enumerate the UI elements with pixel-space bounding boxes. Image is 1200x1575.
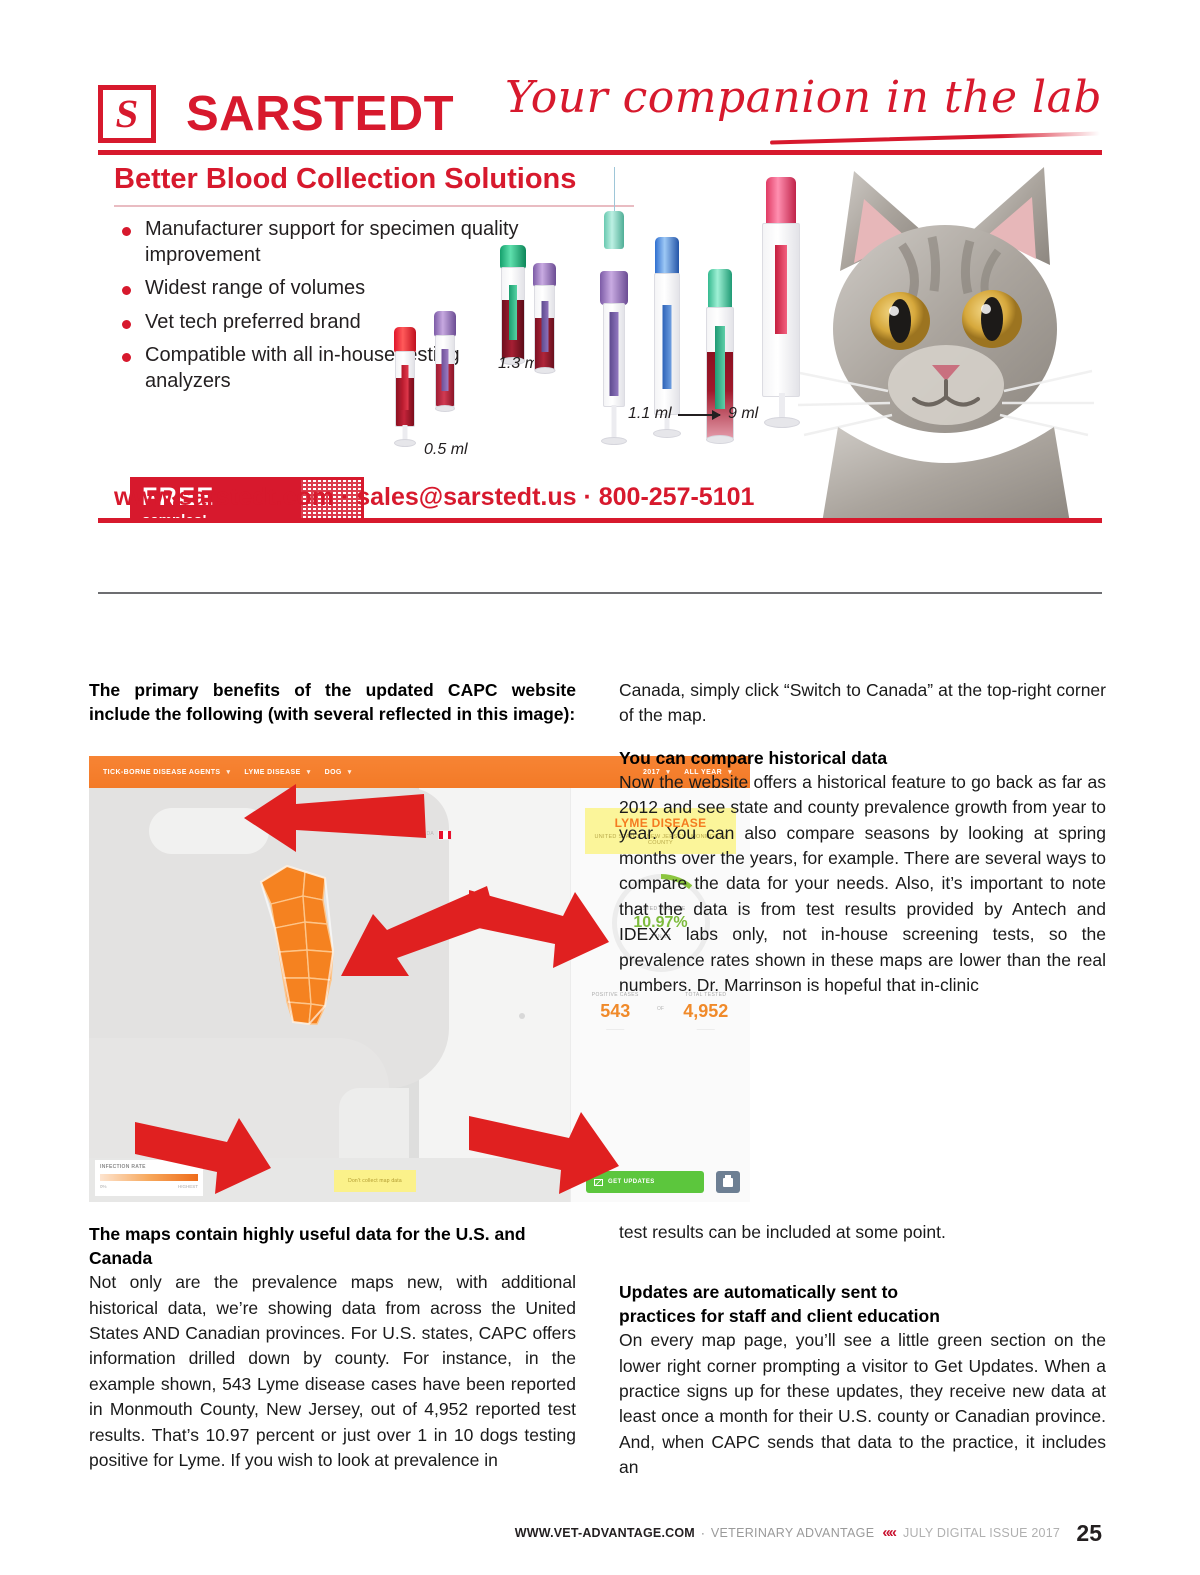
filter-label: LYME DISEASE: [244, 769, 300, 776]
filter-label: TICK-BORNE DISEASE AGENTS: [103, 769, 220, 776]
bullet-dot-icon: [122, 286, 131, 295]
volume-range-arrow-icon: [678, 414, 720, 416]
chevron-down-icon: ▾: [226, 768, 230, 776]
right-subhead-updates-l1: Updates are automatically sent to: [619, 1280, 1106, 1304]
right-subhead-historical: You can compare historical data: [619, 746, 1106, 770]
filter-label: DOG: [325, 769, 342, 776]
volume-label-1-1ml: 1.1 ml: [628, 405, 672, 423]
sarstedt-advertisement: S SARSTEDT Your companion in the lab Bet…: [98, 78, 1102, 523]
tube-purple-tall: [530, 263, 560, 383]
article-lead-paragraph: The primary benefits of the updated CAPC…: [89, 678, 576, 726]
tube-cap-purple: [434, 311, 456, 337]
cat-illustration: [782, 155, 1102, 518]
ad-header: S SARSTEDT Your companion in the lab: [98, 78, 1102, 150]
map-tooltip: Don't collect map data: [334, 1170, 416, 1192]
tube-cap-teal: [604, 211, 624, 249]
tube-cap-purple: [600, 271, 628, 305]
article-right-column: Canada, simply click “Switch to Canada” …: [619, 678, 1106, 998]
section-divider: [98, 592, 1102, 594]
needle-icon: [614, 167, 615, 215]
filter-disease[interactable]: LYME DISEASE ▾: [244, 768, 310, 776]
left-body-paragraph: Not only are the prevalence maps new, wi…: [89, 1270, 576, 1473]
tube-purple-small: [430, 311, 460, 431]
spacer: [619, 729, 1106, 746]
article-left-column: The primary benefits of the updated CAPC…: [89, 678, 576, 726]
tagline-underline-swish: [770, 131, 1100, 144]
nj-counties-svg: [253, 848, 343, 1028]
volume-label-0-5ml: 0.5 ml: [424, 441, 468, 459]
tube-barrel: [603, 303, 625, 407]
product-tubes-image: 0.5 ml: [368, 159, 808, 518]
tube-label: [610, 312, 619, 396]
tube-barrel: [435, 335, 455, 407]
tube-foot: [535, 367, 556, 374]
tube-cap-blue: [655, 237, 679, 277]
ad-contact-line: www.sarstedt.com · sales@sarstedt.us · 8…: [114, 483, 754, 512]
tube-label: [663, 305, 672, 389]
magazine-page: S SARSTEDT Your companion in the lab Bet…: [0, 0, 1200, 1575]
chevron-down-icon: ▾: [307, 768, 311, 776]
bullet-dot-icon: [122, 227, 131, 236]
legend-low: 0%: [100, 1184, 107, 1189]
chevrons-left-icon: ««: [882, 1524, 895, 1541]
stat-separator-of: OF: [650, 1006, 672, 1012]
highlighted-state-new-jersey[interactable]: [253, 848, 343, 1028]
footer-credit: WWW.VET-ADVANTAGE.COM · VETERINARY ADVAN…: [515, 1524, 1060, 1541]
tube-foot: [706, 435, 734, 444]
tube-barrel: [654, 273, 680, 415]
bullet-text: Vet tech preferred brand: [145, 310, 361, 336]
right-continuation-paragraph: Canada, simply click “Switch to Canada” …: [619, 678, 1106, 729]
annotation-arrow-4: [135, 1114, 271, 1202]
footer-magazine-name: VETERINARY ADVANTAGE: [711, 1526, 874, 1540]
stat-sub: ————: [581, 1027, 650, 1032]
tube-barrel: [501, 267, 525, 361]
page-number: 25: [1076, 1520, 1102, 1547]
brand-name: SARSTEDT: [186, 86, 454, 142]
right-subhead-updates-l2: practices for staff and client education: [619, 1304, 1106, 1328]
tube-stem: [612, 405, 617, 441]
tube-cap-purple: [533, 263, 556, 287]
article-right-column-lower: Updates are automatically sent to practi…: [619, 1280, 1106, 1481]
footer-separator-dot: ·: [701, 1526, 705, 1540]
logo-glyph: S: [113, 94, 141, 134]
tube-label: [541, 301, 548, 351]
tube-foot: [435, 405, 455, 412]
left-subhead: The maps contain highly useful data for …: [89, 1222, 576, 1270]
bullet-text: Widest range of volumes: [145, 276, 365, 302]
tube-label: [715, 326, 725, 409]
tube-0-5ml: [390, 327, 420, 449]
right-body-updates: On every map page, you’ll see a little g…: [619, 1328, 1106, 1480]
tube-foot: [394, 439, 416, 447]
stat-value: 543: [581, 1001, 650, 1022]
filter-disease-agents[interactable]: TICK-BORNE DISEASE AGENTS ▾: [103, 768, 230, 776]
chevron-down-icon: ▾: [348, 768, 352, 776]
ad-tagline: Your companion in the lab: [505, 72, 1102, 123]
ad-bottom-rule: [98, 518, 1102, 523]
tube-barrel: [395, 351, 415, 427]
tube-barrel: [534, 285, 555, 371]
tube-cap-green: [500, 245, 526, 269]
tube-label: [442, 349, 449, 391]
tube-cap-green: [708, 269, 732, 311]
sarstedt-logo-icon: S: [98, 85, 156, 143]
ad-body: Better Blood Collection Solutions Manufa…: [98, 155, 1102, 518]
volume-label-9ml: 9 ml: [728, 405, 758, 423]
annotation-arrow-1: [244, 778, 469, 858]
page-footer: WWW.VET-ADVANTAGE.COM · VETERINARY ADVAN…: [0, 1517, 1200, 1541]
annotation-arrow-5: [469, 1108, 619, 1202]
tube-cap-red: [394, 327, 416, 353]
stat-sub: ————: [672, 1027, 741, 1032]
tube-label: [402, 365, 409, 409]
right-body-tail: test results can be included at some poi…: [619, 1220, 1106, 1245]
tube-syringe-teal: [596, 211, 632, 461]
annotation-arrow-3: [469, 884, 609, 974]
tube-green-large: [700, 269, 740, 479]
tube-foot: [601, 437, 627, 445]
stat-value: 4,952: [672, 1001, 741, 1022]
article-left-column-lower: The maps contain highly useful data for …: [89, 1222, 576, 1473]
footer-issue: JULY DIGITAL ISSUE 2017: [903, 1526, 1060, 1540]
bullet-dot-icon: [122, 320, 131, 329]
right-body-historical: Now the website offers a historical feat…: [619, 770, 1106, 998]
footer-url[interactable]: WWW.VET-ADVANTAGE.COM: [515, 1526, 695, 1540]
filter-species[interactable]: DOG ▾: [325, 768, 352, 776]
tube-label: [509, 285, 517, 340]
article-right-column-mid: test results can be included at some poi…: [619, 1220, 1106, 1245]
print-icon: [723, 1178, 733, 1187]
tube-foot: [653, 429, 681, 438]
map-marker-icon: [519, 1013, 525, 1019]
print-button[interactable]: [716, 1171, 740, 1193]
cat-photo: [782, 155, 1102, 518]
bullet-dot-icon: [122, 353, 131, 362]
